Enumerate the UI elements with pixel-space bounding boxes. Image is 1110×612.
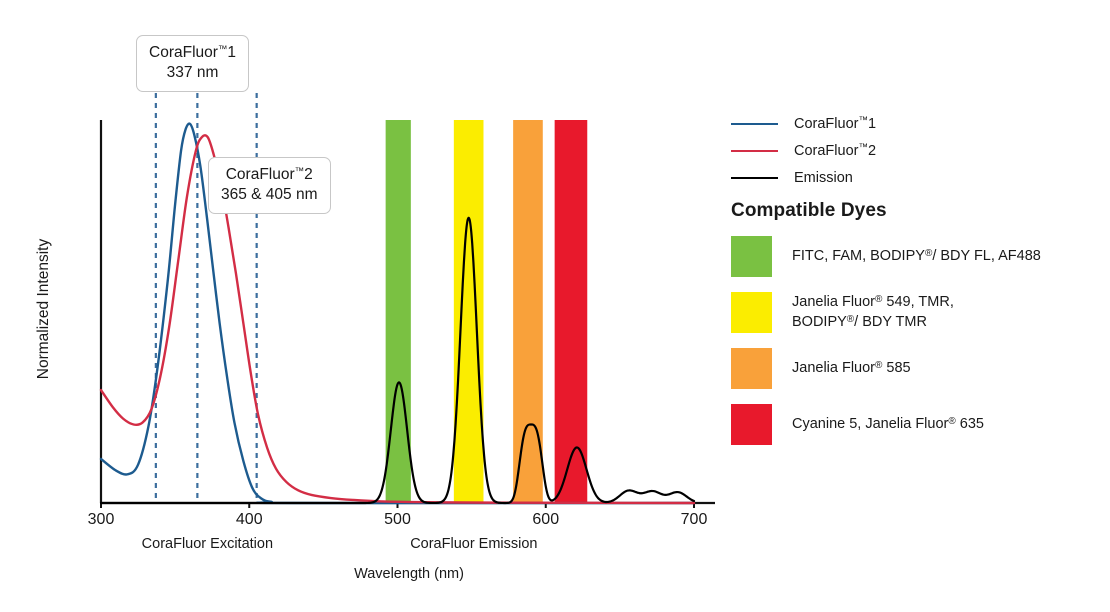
callout-corafluor2: CoraFluor™2 365 & 405 nm	[208, 157, 331, 214]
x-tick-600: 600	[516, 511, 576, 529]
orange-band	[513, 120, 543, 503]
trademark-symbol: ™	[218, 44, 228, 55]
legend-label: CoraFluor™1	[794, 115, 876, 132]
callout-corafluor1-line1: CoraFluor™1	[149, 43, 236, 63]
legend-item-corafluor1: CoraFluor™1	[731, 110, 1091, 137]
registered-symbol: ®	[948, 416, 955, 427]
dye-color-swatch	[731, 292, 772, 333]
legend-label: Emission	[794, 170, 853, 186]
legend-line-swatch	[731, 177, 778, 179]
dye-label: Janelia Fluor® 585	[792, 359, 911, 379]
excitation-region-label: CoraFluor Excitation	[111, 536, 304, 552]
legend-label: CoraFluor™2	[794, 142, 876, 159]
dye-color-swatch	[731, 404, 772, 445]
x-tick-400: 400	[219, 511, 279, 529]
legend-item-emission: Emission	[731, 164, 1091, 191]
legend-line-swatch	[731, 150, 778, 152]
x-tick-300: 300	[71, 511, 131, 529]
legend-item-corafluor2: CoraFluor™2	[731, 137, 1091, 164]
dye-label: FITC, FAM, BODIPY®/ BDY FL, AF488	[792, 247, 1041, 267]
callout-corafluor1: CoraFluor™1 337 nm	[136, 35, 249, 92]
callout-corafluor2-line1: CoraFluor™2	[221, 165, 318, 185]
x-tick-700: 700	[664, 511, 724, 529]
dye-label: Cyanine 5, Janelia Fluor® 635	[792, 415, 984, 435]
trademark-symbol: ™	[858, 115, 868, 126]
y-axis-title: Normalized Intensity	[35, 229, 53, 389]
compatible-dyes-list: FITC, FAM, BODIPY®/ BDY FL, AF488 Janeli…	[731, 236, 1101, 460]
dye-color-swatch	[731, 236, 772, 277]
dye-item: FITC, FAM, BODIPY®/ BDY FL, AF488	[731, 236, 1101, 277]
legend-line-swatch	[731, 123, 778, 125]
dye-item: Cyanine 5, Janelia Fluor® 635	[731, 404, 1101, 445]
dye-label: Janelia Fluor® 549, TMR, BODIPY®/ BDY TM…	[792, 293, 954, 332]
compatible-dyes-title: Compatible Dyes	[731, 200, 887, 222]
dye-color-swatch	[731, 348, 772, 389]
series-legend: CoraFluor™1 CoraFluor™2 Emission	[731, 110, 1091, 191]
red-band	[555, 120, 588, 503]
emission-region-label: CoraFluor Emission	[333, 536, 615, 552]
x-axis-title: Wavelength (nm)	[0, 566, 818, 582]
trademark-symbol: ™	[295, 166, 305, 177]
dye-item: Janelia Fluor® 585	[731, 348, 1101, 389]
dye-item: Janelia Fluor® 549, TMR, BODIPY®/ BDY TM…	[731, 292, 1101, 333]
callout-corafluor1-line2: 337 nm	[149, 63, 236, 83]
x-tick-500: 500	[368, 511, 428, 529]
trademark-symbol: ™	[858, 142, 868, 153]
spectra-figure: CoraFluor™1 337 nm CoraFluor™2 365 & 405…	[0, 0, 1110, 612]
callout-corafluor2-line2: 365 & 405 nm	[221, 185, 318, 205]
yellow-band	[454, 120, 484, 503]
